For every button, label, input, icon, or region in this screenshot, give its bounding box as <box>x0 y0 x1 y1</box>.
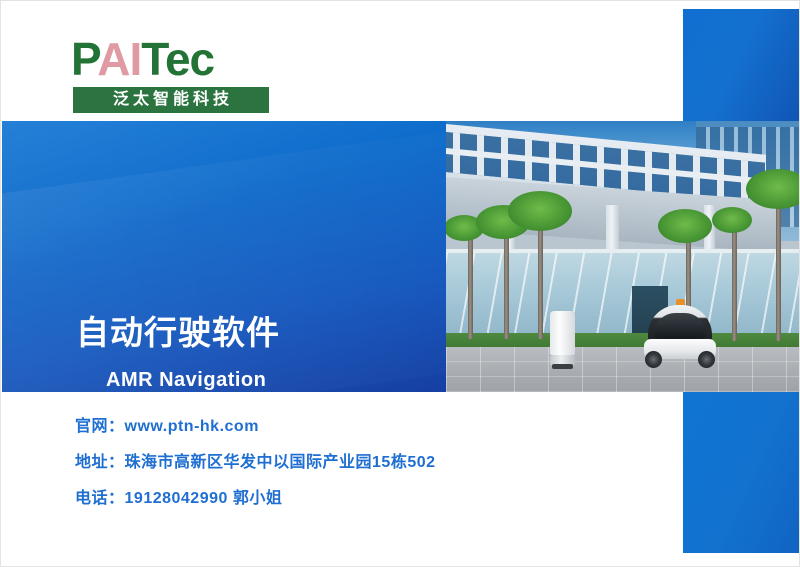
vehicle-windshield <box>654 313 706 339</box>
contact-block: 官网：www.ptn-hk.com 地址：珠海市高新区华发中以国际产业园15栋5… <box>75 417 635 525</box>
company-logo: PAITec 泛太智能科技 <box>71 33 271 113</box>
logo-wordmark-p: P <box>71 33 97 85</box>
logo-chinese-bar: 泛太智能科技 <box>73 87 269 113</box>
hero-title-chinese: 自动行驶软件 <box>76 313 280 353</box>
photo-pavement-joints <box>446 347 800 392</box>
hero-title-english: AMR Navigation <box>106 367 266 393</box>
decorative-block-top-right <box>683 9 800 122</box>
contact-value-phone: 19128042990 郭小姐 <box>125 490 283 507</box>
robot-wheels <box>552 364 573 369</box>
photo-autonomous-vehicle <box>642 299 718 371</box>
contact-label-phone: 电话： <box>75 490 125 507</box>
contact-value-website[interactable]: www.ptn-hk.com <box>125 418 259 435</box>
robot-body <box>550 311 575 355</box>
hero-photo <box>446 121 800 392</box>
logo-chinese-name: 泛太智能科技 <box>109 91 233 109</box>
photo-palm-trunk <box>776 195 781 341</box>
brochure-cover-page: PAITec 泛太智能科技 自动行驶软件 AMR Navigation 工作流程… <box>0 0 800 567</box>
photo-palm-trunk <box>468 233 473 339</box>
photo-palm-trunk <box>504 225 509 339</box>
logo-wordmark-tec: Tec <box>141 33 214 85</box>
contact-row-address: 地址：珠海市高新区华发中以国际产业园15栋502 <box>75 453 635 472</box>
vehicle-wheel <box>698 351 715 368</box>
photo-glass-mullions <box>446 253 800 339</box>
vehicle-wheel <box>645 351 662 368</box>
photo-palm-trunk <box>538 217 543 339</box>
photo-palm-crown <box>712 207 752 233</box>
contact-row-phone: 电话：19128042990 郭小姐 <box>75 489 635 508</box>
photo-delivery-robot <box>550 311 575 369</box>
logo-wordmark-ai: AI <box>97 33 141 85</box>
photo-palm-trunk <box>732 223 737 341</box>
contact-label-website: 官网： <box>75 418 125 435</box>
hero-text-group: 自动行驶软件 AMR Navigation 工作流程画册 <box>2 121 446 392</box>
photo-palm-crown <box>508 191 572 231</box>
contact-label-address: 地址： <box>75 454 125 471</box>
contact-row-website: 官网：www.ptn-hk.com <box>75 417 635 436</box>
photo-palm-crown <box>658 209 712 243</box>
decorative-block-bottom-right <box>683 391 800 553</box>
contact-value-address: 珠海市高新区华发中以国际产业园15栋502 <box>125 454 436 471</box>
logo-wordmark: PAITec <box>71 33 214 85</box>
hero-band: 自动行驶软件 AMR Navigation 工作流程画册 <box>2 121 800 392</box>
